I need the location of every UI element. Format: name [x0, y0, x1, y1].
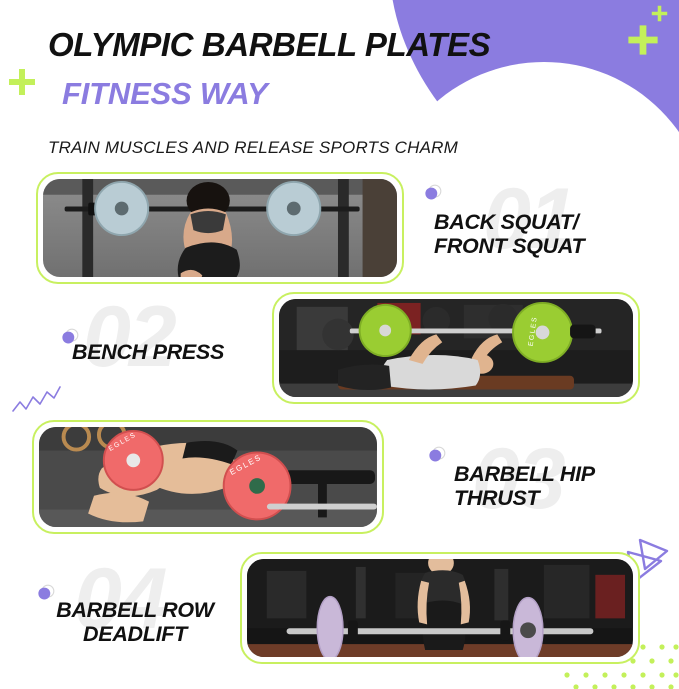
poster-canvas: OLYMPIC BARBELL PLATES FITNESS WAY TRAIN…: [0, 0, 679, 689]
entry-title: BARBELL HIP THRUST: [454, 462, 595, 510]
photo-panel-bench-press: EGLES: [272, 292, 640, 404]
entry-back-squat: 01 BACK SQUAT/ FRONT SQUAT: [420, 178, 670, 278]
bullet-icon: [423, 184, 442, 203]
photo-deadlift: [247, 559, 633, 657]
entry-title: BARBELL ROW DEADLIFT: [22, 598, 248, 646]
entry-hip-thrust: 03 BARBELL HIP THRUST: [424, 440, 674, 540]
entry-number: 02: [83, 294, 175, 380]
tagline: TRAIN MUSCLES AND RELEASE SPORTS CHARM: [48, 138, 458, 158]
entry-bench-press: 02 BENCH PRESS: [28, 300, 278, 400]
photo-panel-deadlift: [240, 552, 640, 664]
entry-title: BENCH PRESS: [28, 340, 268, 364]
page-title: OLYMPIC BARBELL PLATES: [48, 26, 648, 64]
plus-sign-icon: [6, 66, 38, 98]
photo-bench-press: EGLES: [279, 299, 633, 397]
entry-barbell-row: 04 BARBELL ROW DEADLIFT: [22, 560, 272, 660]
photo-panel-back-squat: [36, 172, 404, 284]
entry-title: BACK SQUAT/ FRONT SQUAT: [434, 210, 584, 258]
poster-header: OLYMPIC BARBELL PLATES FITNESS WAY: [48, 26, 648, 112]
photo-back-squat: [43, 179, 397, 277]
page-subtitle: FITNESS WAY: [62, 76, 648, 112]
photo-hip-thrust: EGLES EGLES: [39, 427, 377, 527]
plus-sign-icon: [650, 4, 669, 23]
photo-panel-hip-thrust: EGLES EGLES: [32, 420, 384, 534]
bullet-icon: [427, 446, 446, 465]
